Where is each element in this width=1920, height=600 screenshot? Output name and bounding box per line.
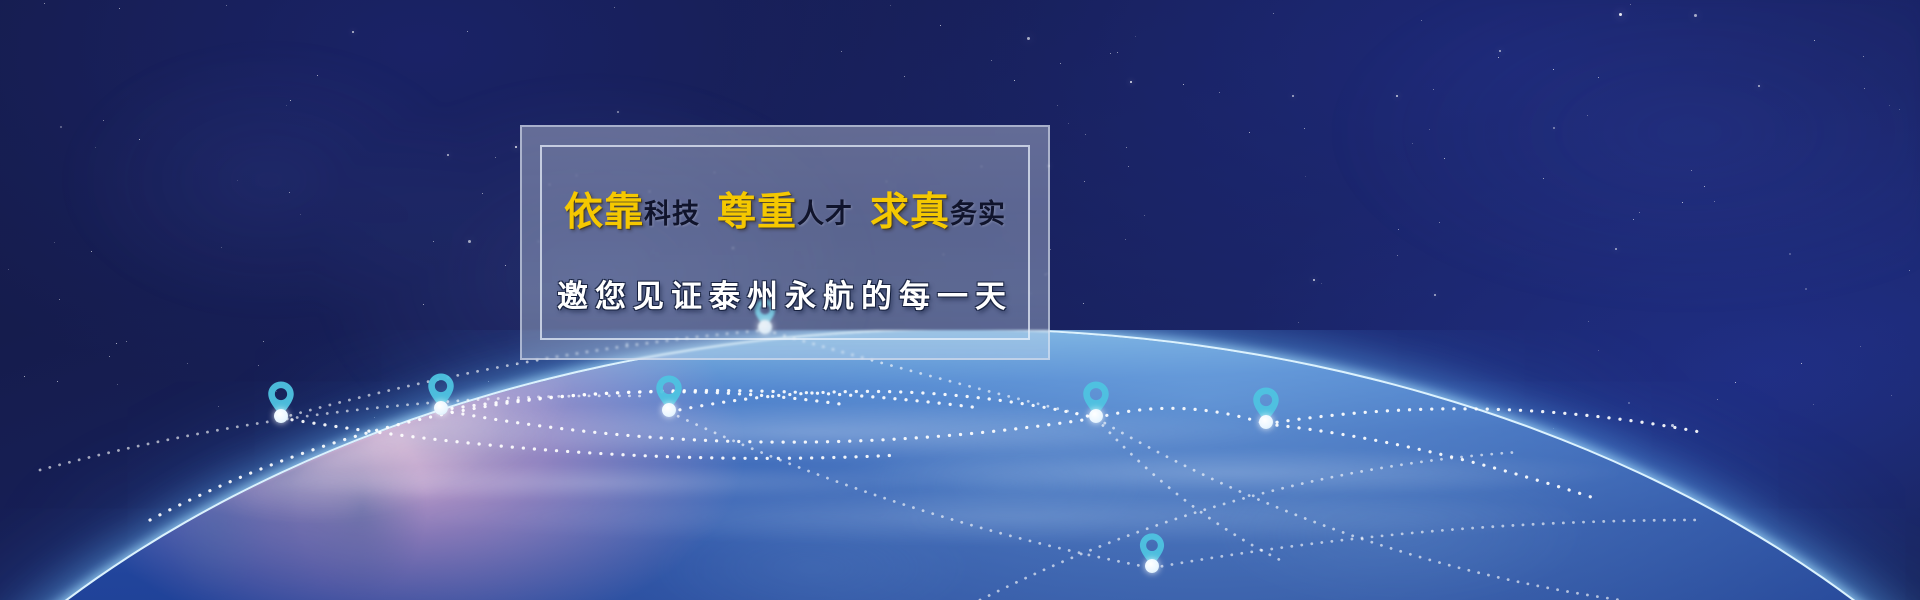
headline-gold-1: 依靠 bbox=[564, 189, 644, 235]
headline: 依靠科技尊重人才求真务实 bbox=[522, 193, 1048, 232]
pin-pacific-east[interactable] bbox=[1251, 386, 1281, 424]
text-panel: 依靠科技尊重人才求真务实 邀您见证泰州永航的每一天 bbox=[520, 125, 1050, 360]
pin-mid-atlantic[interactable] bbox=[654, 374, 684, 412]
headline-gold-2: 尊重 bbox=[717, 189, 797, 235]
headline-gold-3: 求真 bbox=[870, 189, 950, 235]
map-pin-base-dot bbox=[1145, 559, 1159, 573]
map-pin-base-dot bbox=[662, 403, 676, 417]
map-pin-base-dot bbox=[434, 401, 448, 415]
hero-banner: 依靠科技尊重人才求真务实 邀您见证泰州永航的每一天 bbox=[0, 0, 1920, 600]
pin-west-atlantic[interactable] bbox=[266, 380, 296, 418]
map-pin-base-dot bbox=[1259, 415, 1273, 429]
headline-dark-3: 务实 bbox=[950, 199, 1006, 230]
subtitle: 邀您见证泰州永航的每一天 bbox=[522, 271, 1048, 316]
headline-dark-2: 人才 bbox=[797, 199, 853, 230]
pin-north-america[interactable] bbox=[426, 372, 456, 410]
map-pin-base-dot bbox=[1089, 409, 1103, 423]
headline-dark-1: 科技 bbox=[644, 199, 700, 230]
pin-south-edge[interactable] bbox=[1138, 532, 1166, 568]
map-pin-base-dot bbox=[274, 409, 288, 423]
pin-asia-hub[interactable] bbox=[1081, 380, 1111, 418]
